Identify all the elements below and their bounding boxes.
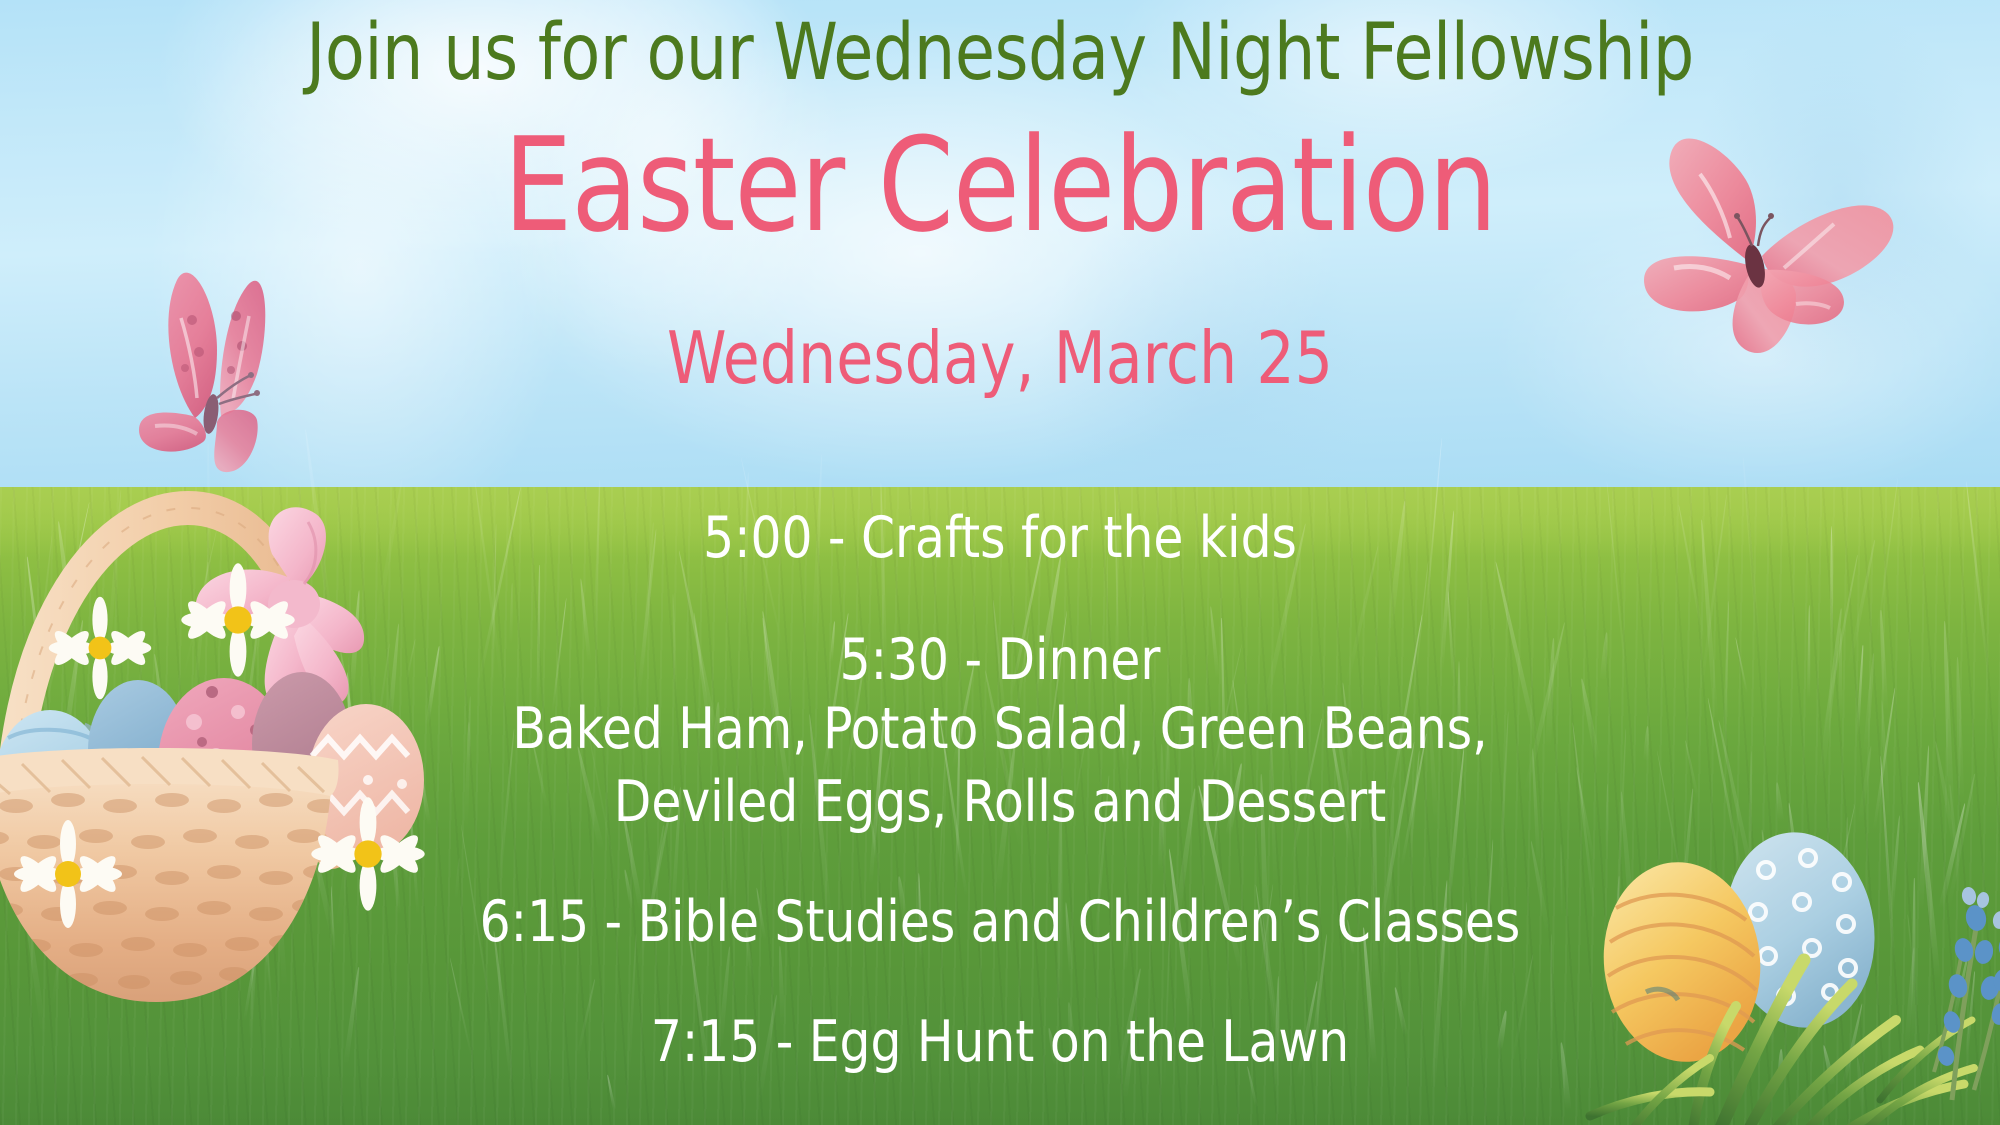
easter-celebration-poster: Join us for our Wednesday Night Fellowsh…	[0, 0, 2000, 1125]
easter-basket	[0, 382, 422, 1125]
easter-eggs-decoration	[1560, 800, 2000, 1125]
butterfly-icon	[1638, 128, 1908, 358]
headline-text: Join us for our Wednesday Night Fellowsh…	[70, 14, 1930, 94]
